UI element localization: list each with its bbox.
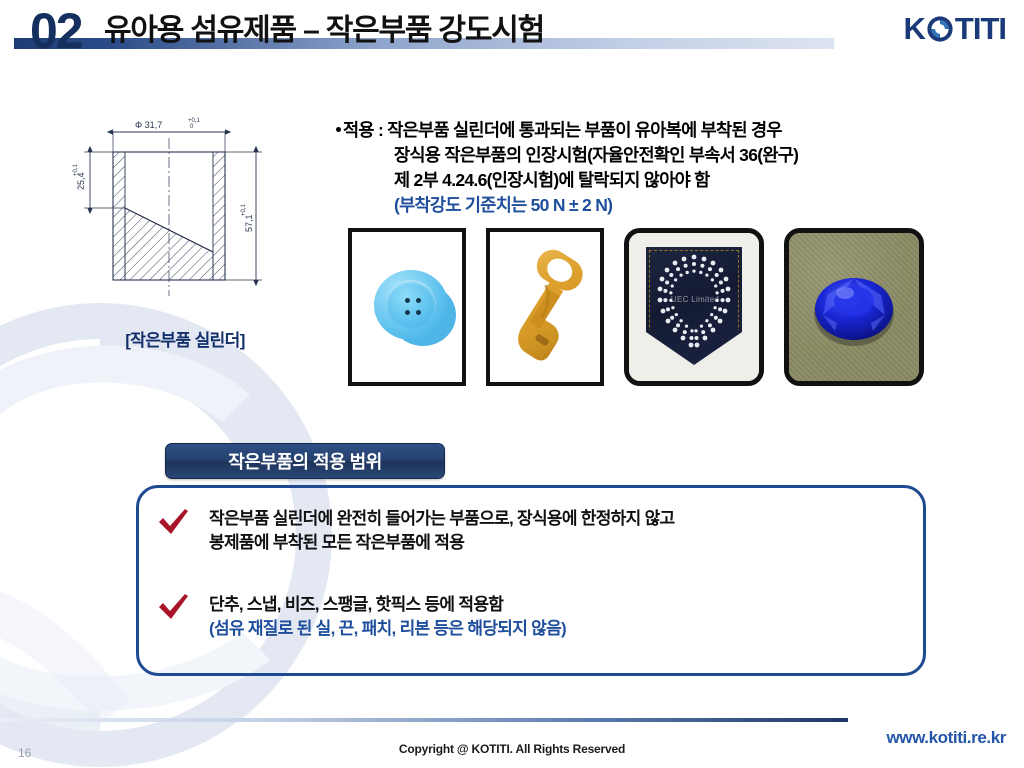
section-banner: 작은부품의 적용 범위 (165, 443, 445, 479)
svg-text:+0,1: +0,1 (241, 203, 247, 216)
scope-item-1-line-2: 봉제품에 부착된 모든 작은부품에 적용 (209, 531, 674, 555)
bullet-line-1: 적용 : 작은부품 실린더에 통과되는 부품이 유아복에 부착된 경우 (336, 118, 996, 143)
sample-photo-strip: UEC Limited (348, 228, 924, 386)
button-hole-icon (405, 298, 410, 303)
button-inner-rim-shape (386, 280, 436, 328)
svg-text:57,1: 57,1 (244, 214, 254, 232)
blue-gem-shape (789, 233, 919, 381)
svg-text:Φ 31,7: Φ 31,7 (135, 120, 162, 130)
section-banner-label: 작은부품의 적용 범위 (228, 448, 382, 474)
scope-item-2-line-1: 단추, 스냅, 비즈, 스팽글, 핫픽스 등에 적용함 (209, 593, 566, 617)
rhinestone-pattern-icon (629, 233, 759, 381)
bullet-dot-icon (336, 127, 341, 132)
page-title: 유아용 섬유제품 – 작은부품 강도시험 (104, 16, 544, 46)
zipper-pull-photo (486, 228, 604, 386)
small-parts-cylinder-drawing: Φ 31,7 +0,1 0 25,4 +0,1 57,1 (40, 112, 330, 322)
check-icon (157, 508, 191, 538)
footer-url[interactable]: www.kotiti.re.kr (886, 728, 1006, 748)
scope-item-1-text: 작은부품 실린더에 완전히 들어가는 부품으로, 장식용에 한정하지 않고 봉제… (209, 507, 674, 555)
footer-divider (0, 718, 848, 722)
bullet-line-1-text: 적용 : 작은부품 실린더에 통과되는 부품이 유아복에 부착된 경우 (343, 120, 782, 140)
logo-text-titi: TITI (955, 13, 1006, 44)
scope-item-2-line-2-note: (섬유 재질로 된 실, 끈, 패치, 리본 등은 해당되지 않음) (209, 617, 566, 641)
button-hole-icon (416, 310, 421, 315)
svg-text:0: 0 (190, 124, 194, 130)
svg-text:+0,1: +0,1 (73, 163, 79, 176)
kotiti-logo: K TITI (904, 10, 1007, 46)
footer-copyright: Copyright @ KOTITI. All Rights Reserved (0, 742, 1024, 756)
scope-item-2-text: 단추, 스냅, 비즈, 스팽글, 핫픽스 등에 적용함 (섬유 재질로 된 실,… (209, 593, 566, 641)
logo-text-k: K (904, 13, 925, 44)
bullet-line-3: 제 2부 4.24.6(인장시험)에 탈락되지 않아야 함 (336, 168, 996, 193)
check-icon (157, 593, 191, 623)
scope-content-box: 작은부품 실린더에 완전히 들어가는 부품으로, 장식용에 한정하지 않고 봉제… (136, 485, 926, 676)
blue-button-photo (348, 228, 466, 386)
blue-gem-photo (784, 228, 924, 386)
denim-pocket-photo: UEC Limited (624, 228, 764, 386)
drawing-caption: [작은부품 실린더] (40, 326, 330, 351)
button-hole-icon (416, 298, 421, 303)
slide-canvas: 02 유아용 섬유제품 – 작은부품 강도시험 K TITI (0, 0, 1024, 768)
kotiti-swirl-icon (926, 15, 954, 43)
bullet-line-4-highlight: (부착강도 기준치는 50 N ± 2 N) (336, 193, 996, 218)
application-bullet-block: 적용 : 작은부품 실린더에 통과되는 부품이 유아복에 부착된 경우 장식용 … (336, 118, 996, 218)
scope-item-1-line-1: 작은부품 실린더에 완전히 들어가는 부품으로, 장식용에 한정하지 않고 (209, 507, 674, 531)
slide-number-badge: 02 (30, 6, 82, 56)
button-hole-icon (405, 310, 410, 315)
bullet-line-2: 장식용 작은부품의 인장시험(자율안전확인 부속서 36(완구) (336, 143, 996, 168)
